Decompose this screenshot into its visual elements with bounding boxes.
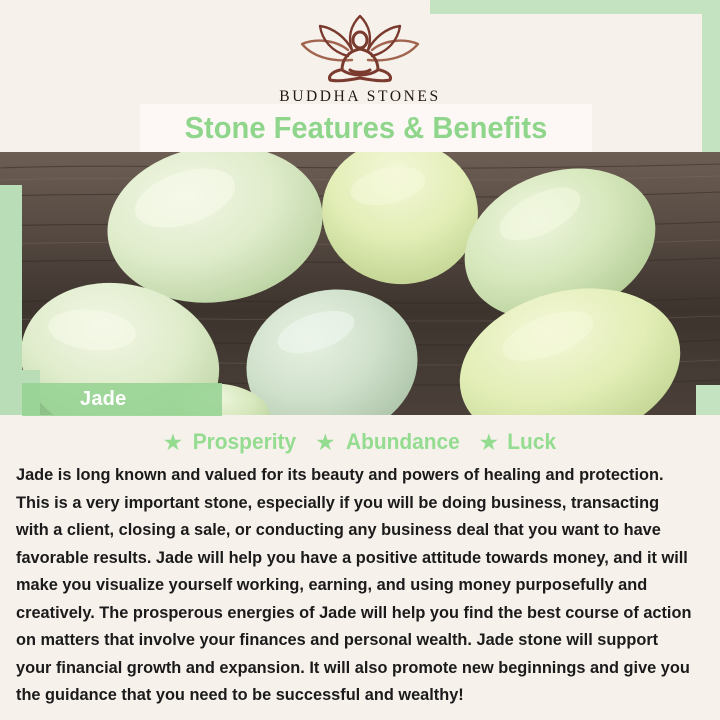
stone-description: Jade is long known and valued for its be… [16,461,692,709]
star-icon: ★ [163,431,184,454]
star-icon: ★ [478,431,499,454]
brand-logo: BUDDHA STONES [0,12,720,106]
stone-name: Jade [80,388,126,411]
benefit-label: Prosperity [193,429,296,455]
stone-name-banner: Jade [22,383,222,416]
infographic-page: BUDDHA STONES Stone Features & Benefits [0,0,720,720]
benefit-item: ★ Luck [478,429,557,455]
header-title-band: Stone Features & Benefits [140,104,592,152]
lotus-meditation-icon [282,12,438,86]
benefit-item: ★ Abundance [315,429,462,455]
star-icon: ★ [315,431,336,454]
benefit-label: Abundance [346,429,460,455]
jade-stones-image [0,152,720,415]
stone-photo [0,152,720,415]
page-title: Stone Features & Benefits [185,110,548,146]
benefit-item: ★ Prosperity [163,429,299,455]
benefit-label: Luck [507,429,556,455]
content-section: ★ Prosperity ★ Abundance ★ Luck Jade is … [0,415,720,720]
benefits-row: ★ Prosperity ★ Abundance ★ Luck [0,415,720,455]
